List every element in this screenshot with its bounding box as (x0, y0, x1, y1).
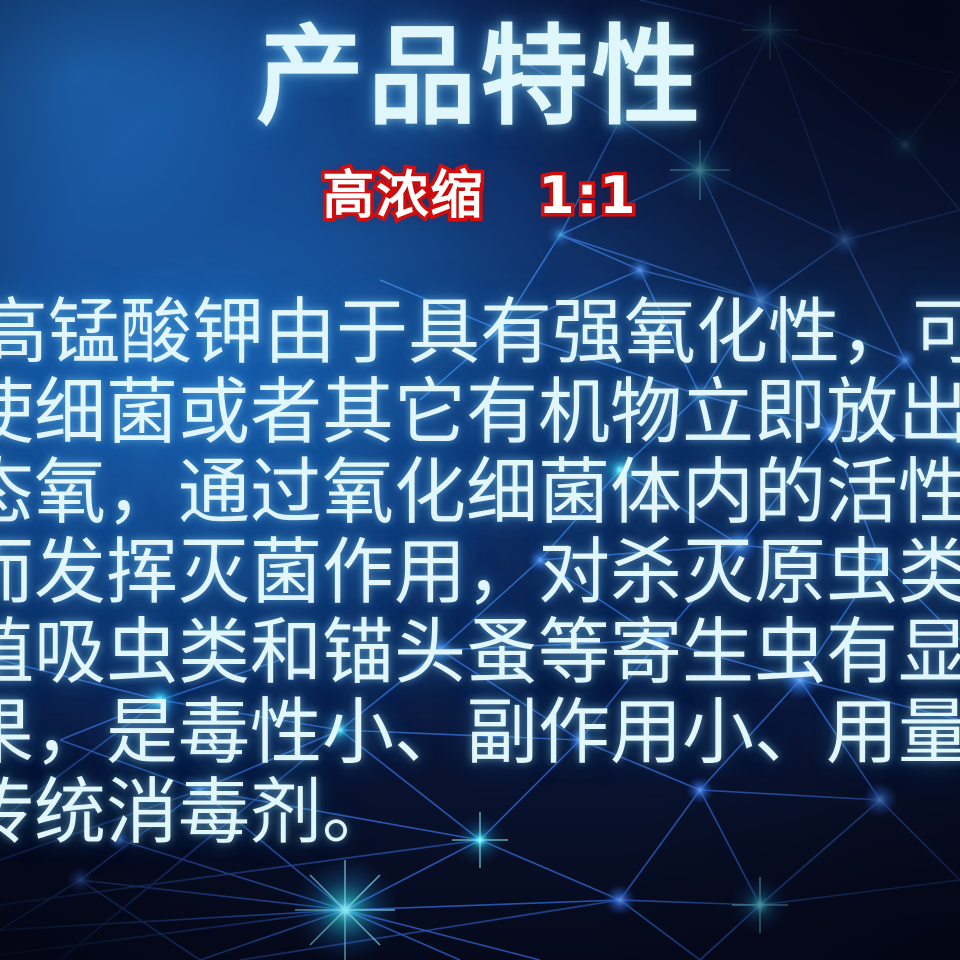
body-line: 单殖吸虫类和锚头蚤等寄生虫有显著 (0, 612, 960, 692)
page-title: 产品特性 (0, 18, 960, 139)
body-line: 效果，是毒性小、副作用小、用量小 (0, 692, 960, 772)
subtitle-concentration: 高浓缩 1:1 (0, 168, 960, 225)
product-feature-poster: 产品特性 高浓缩 1:1 高锰酸钾由于具有强氧化性，可 促使细菌或者其它有机物立… (0, 0, 960, 960)
body-text-block: 高锰酸钾由于具有强氧化性，可 促使细菌或者其它有机物立即放出新 生态氧，通过氧化… (0, 292, 960, 852)
body-line: 的传统消毒剂。 (0, 772, 960, 852)
poster-content: 产品特性 高浓缩 1:1 高锰酸钾由于具有强氧化性，可 促使细菌或者其它有机物立… (0, 0, 960, 960)
body-line: 生态氧，通过氧化细菌体内的活性基 (0, 452, 960, 532)
body-line: 因而发挥灭菌作用，对杀灭原虫类、 (0, 532, 960, 612)
body-line: 高锰酸钾由于具有强氧化性，可 (0, 292, 960, 372)
body-line: 促使细菌或者其它有机物立即放出新 (0, 372, 960, 452)
